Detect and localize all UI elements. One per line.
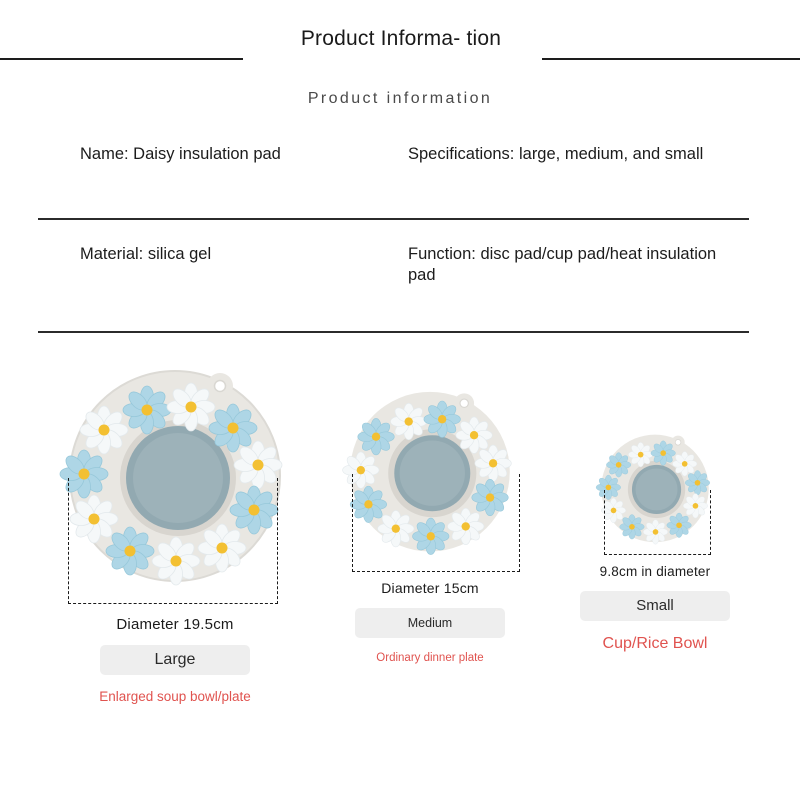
header-rule-left [0,58,243,60]
use-label-medium: Ordinary dinner plate [330,652,530,664]
product-information-table: Name: Daisy insulation pad Specification… [0,128,800,320]
table-divider [38,331,749,333]
spec-specifications: Specifications: large, medium, and small [408,144,748,165]
daisy-insulation-pad-large-image [50,358,300,608]
page-subtitle: Product information [0,90,800,108]
table-divider [38,218,749,220]
diameter-label-large: Diameter 19.5cm [50,616,300,633]
measurement-bracket-small [604,490,711,555]
spec-material: Material: silica gel [80,244,390,265]
table-row: Name: Daisy insulation pad Specification… [0,128,800,224]
measurement-bracket-large [68,478,278,604]
size-chip-large: Large [100,645,250,675]
product-card-medium: Diameter 15cm Medium Ordinary dinner pla… [330,382,530,664]
page-header: Product Informa- tion [0,0,800,90]
spec-name: Name: Daisy insulation pad [80,144,390,165]
size-chip-medium: Medium [355,608,505,638]
daisy-insulation-pad-medium-image [335,382,525,572]
product-card-large: Diameter 19.5cm Large Enlarged soup bowl… [50,358,300,704]
product-card-small: 9.8cm in diameter Small Cup/Rice Bowl [570,428,740,653]
diameter-label-medium: Diameter 15cm [330,580,530,596]
header-rule-right [542,58,800,60]
use-label-large: Enlarged soup bowl/plate [50,689,300,704]
use-label-small: Cup/Rice Bowl [570,635,740,653]
diameter-label-small: 9.8cm in diameter [570,564,740,579]
size-chip-small: Small [580,591,730,621]
table-row: Material: silica gel Function: disc pad/… [0,224,800,320]
measurement-bracket-medium [352,474,520,572]
spec-function: Function: disc pad/cup pad/heat insulati… [408,244,748,286]
product-size-gallery: Diameter 19.5cm Large Enlarged soup bowl… [0,358,800,758]
daisy-insulation-pad-small-image [591,428,719,556]
page-title: Product Informa- tion [287,26,515,52]
